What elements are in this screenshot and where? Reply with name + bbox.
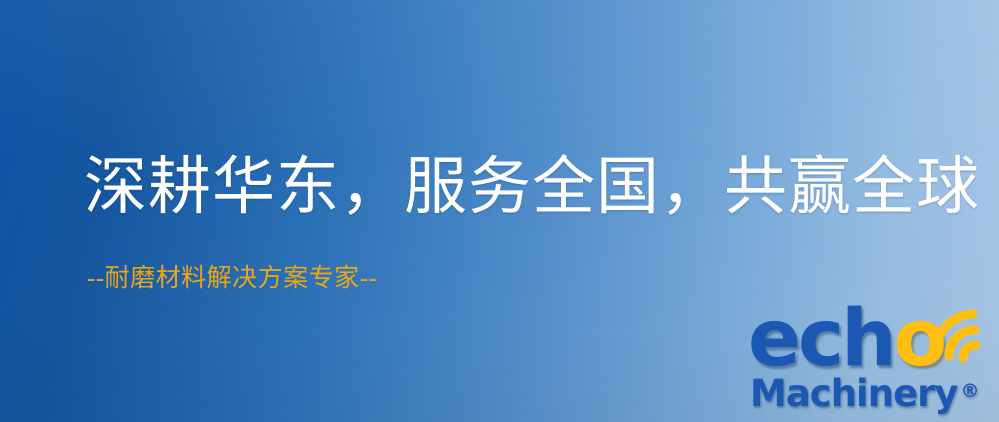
logo-wordmark-ech: ech — [748, 294, 894, 384]
registered-trademark-icon: ® — [961, 380, 980, 402]
logo-tagline: Machinery® — [750, 373, 980, 412]
banner-headline: 深耕华东，服务全国，共赢全球 — [84, 152, 980, 223]
logo-wordmark: echo — [748, 300, 944, 378]
promo-banner: 深耕华东，服务全国，共赢全球 --耐磨材料解决方案专家-- echo Machi… — [0, 0, 999, 422]
company-logo: echo Machinery® — [744, 300, 992, 418]
wifi-arcs-icon — [927, 302, 989, 360]
logo-tagline-text: Machinery — [750, 372, 958, 415]
banner-subtitle: --耐磨材料解决方案专家-- — [87, 264, 377, 294]
